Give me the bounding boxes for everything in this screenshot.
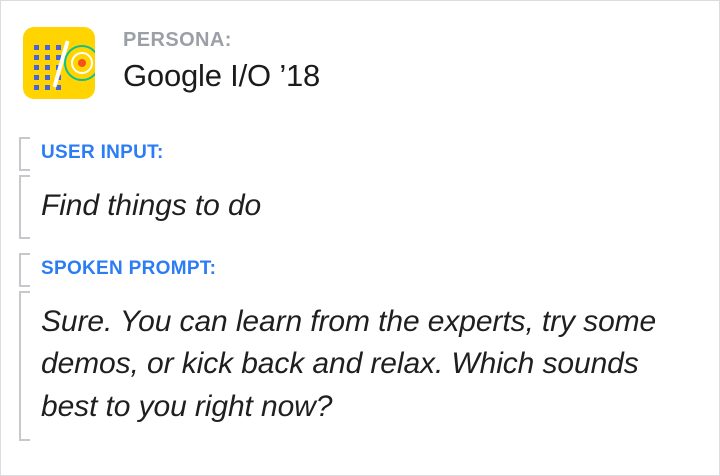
persona-text-block: PERSONA: Google I/O ’18 — [123, 27, 320, 94]
logo-dot — [45, 85, 50, 90]
logo-dot — [45, 55, 50, 60]
logo-dot — [45, 45, 50, 50]
persona-title: Google I/O ’18 — [123, 58, 320, 94]
logo-ring-core — [78, 59, 86, 67]
user-input-label: USER INPUT: — [41, 142, 321, 164]
logo-dot — [56, 45, 61, 50]
logo-dot — [34, 65, 39, 70]
persona-card: PERSONA: Google I/O ’18 USER INPUT: Find… — [0, 0, 720, 476]
field-spoken-prompt: SPOKEN PROMPT: Sure. You can learn from … — [19, 253, 701, 441]
logo-dot — [34, 75, 39, 80]
logo-rings-icon — [64, 45, 95, 81]
persona-label: PERSONA: — [123, 29, 320, 52]
bracket-tick-top-icon — [19, 291, 30, 293]
user-input-value-bracket: Find things to do — [19, 175, 321, 240]
bracket-tick-bottom-icon — [19, 237, 30, 239]
logo-dot — [45, 75, 50, 80]
spoken-prompt-label: SPOKEN PROMPT: — [41, 258, 701, 280]
logo-dot — [45, 65, 50, 70]
spoken-prompt-label-bracket: SPOKEN PROMPT: — [19, 253, 701, 287]
bracket-tick-bottom-icon — [19, 439, 30, 441]
bracket-tick-bottom-icon — [19, 169, 30, 171]
google-io-logo-icon — [23, 27, 95, 99]
user-input-label-bracket: USER INPUT: — [19, 137, 321, 171]
bracket-tick-top-icon — [19, 137, 30, 139]
persona-header: PERSONA: Google I/O ’18 — [23, 27, 320, 99]
bracket-tick-top-icon — [19, 253, 30, 255]
user-input-value: Find things to do — [41, 185, 321, 228]
logo-dot — [34, 85, 39, 90]
spoken-prompt-value-bracket: Sure. You can learn from the experts, tr… — [19, 291, 701, 441]
field-user-input: USER INPUT: Find things to do — [19, 137, 321, 239]
logo-dot — [34, 45, 39, 50]
bracket-tick-bottom-icon — [19, 285, 30, 287]
spoken-prompt-value: Sure. You can learn from the experts, tr… — [41, 301, 701, 429]
bracket-tick-top-icon — [19, 175, 30, 177]
logo-dot — [34, 55, 39, 60]
